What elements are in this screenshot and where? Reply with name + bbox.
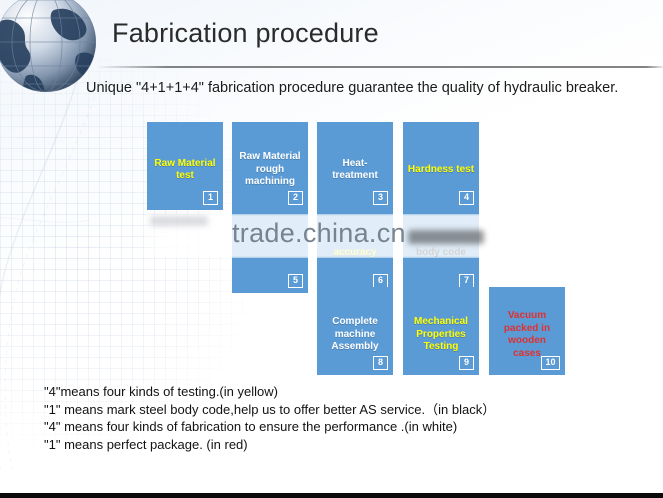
step-number-badge: 9 (459, 356, 474, 370)
process-step-3[interactable]: Heat-treatment3 (317, 122, 393, 210)
step-number-badge: 4 (459, 191, 474, 205)
legend-line-3: "4" means four kinds of fabrication to e… (44, 418, 644, 436)
process-step-2[interactable]: Raw Material rough machining2 (232, 122, 308, 210)
process-step-label: body code (407, 247, 475, 260)
process-flow-grid: Raw Material test1Raw Material rough mac… (147, 122, 607, 374)
process-step-5[interactable]: 5 (232, 205, 308, 293)
process-step-9[interactable]: Mechanical Properties Testing9 (403, 287, 479, 375)
process-step-label: Raw Material rough machining (236, 151, 304, 189)
slide-canvas: Fabrication procedure Unique "4+1+1+4" f… (0, 0, 663, 498)
process-step-10[interactable]: Vacuum packed in wooden cases10 (489, 287, 565, 375)
process-step-4[interactable]: Hardness test4 (403, 122, 479, 210)
legend-line-4: "1" means perfect package. (in red) (44, 436, 644, 454)
legend-block: "4"means four kinds of testing.(in yello… (44, 383, 644, 453)
process-step-label: Mechanical Properties Testing (407, 316, 475, 354)
page-title: Fabrication procedure (112, 18, 379, 49)
step-number-badge: 1 (203, 191, 218, 205)
process-step-label: Vacuum packed in wooden cases (493, 310, 561, 360)
step-number-badge: 10 (541, 356, 560, 370)
process-step-6[interactable]: accuracy6 (317, 205, 393, 293)
step-number-badge: 8 (373, 356, 388, 370)
title-divider (100, 66, 663, 68)
step-number-badge: 7 (459, 274, 474, 288)
subtitle-text: Unique "4+1+1+4" fabrication procedure g… (86, 78, 651, 98)
process-step-label: Raw Material test (151, 158, 219, 183)
process-step-label: Heat-treatment (321, 158, 389, 183)
process-step-8[interactable]: Complete machine Assembly8 (317, 287, 393, 375)
legend-line-2: "1" means mark steel body code,help us t… (44, 401, 644, 419)
process-step-label: accuracy (321, 247, 389, 260)
step-number-badge: 3 (373, 191, 388, 205)
process-step-1[interactable]: Raw Material test1 (147, 122, 223, 210)
step-number-badge: 2 (288, 191, 303, 205)
process-step-label: Hardness test (407, 164, 475, 177)
process-step-7[interactable]: body code7 (403, 205, 479, 293)
step-number-badge: 6 (373, 274, 388, 288)
process-step-label: Complete machine Assembly (321, 316, 389, 354)
step-number-badge: 5 (288, 274, 303, 288)
legend-line-1: "4"means four kinds of testing.(in yello… (44, 383, 644, 401)
